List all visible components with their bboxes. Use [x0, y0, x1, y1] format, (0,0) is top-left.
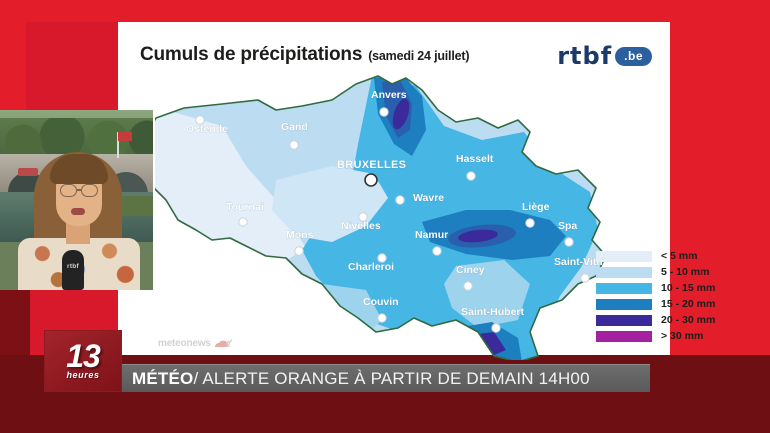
reporter-mouth	[71, 208, 85, 215]
reporter-video-inset: rtbf	[0, 110, 155, 290]
legend-label: 15 - 20 mm	[661, 298, 715, 310]
city-marker	[295, 247, 303, 255]
map-subtitle: (samedi 24 juillet)	[368, 49, 469, 63]
city-marker	[433, 247, 441, 255]
reporter-hair-top	[50, 154, 108, 184]
city-marker	[290, 141, 298, 149]
legend-swatch	[596, 331, 652, 342]
program-number: 13	[66, 342, 100, 371]
city-label: Namur	[415, 229, 448, 241]
city-marker	[526, 219, 534, 227]
legend-row: 20 - 30 mm	[596, 314, 715, 326]
city-marker	[565, 238, 573, 246]
city-marker	[467, 172, 475, 180]
microphone-logo: rtbf	[64, 262, 82, 271]
glasses-left-lens	[60, 184, 77, 197]
city-label: Mons	[286, 229, 314, 241]
city-label: Liège	[522, 201, 550, 213]
flag	[118, 132, 132, 141]
precip-zones	[126, 70, 626, 360]
city-label: Ciney	[456, 264, 485, 276]
city-marker	[380, 108, 388, 116]
precipitation-legend: < 5 mm5 - 10 mm10 - 15 mm15 - 20 mm20 - …	[596, 250, 715, 342]
page-title: Cumuls de précipitations(samedi 24 juill…	[140, 44, 469, 66]
city-marker	[378, 314, 386, 322]
city-label: Couvin	[363, 296, 399, 308]
city-marker	[396, 196, 404, 204]
legend-label: 10 - 15 mm	[661, 282, 715, 294]
rtbf-wordmark: rtbf	[557, 42, 612, 70]
city-marker	[581, 274, 589, 282]
legend-row: 5 - 10 mm	[596, 266, 715, 278]
program-subtitle: heures	[66, 370, 99, 380]
city-marker	[239, 218, 247, 226]
legend-row: 15 - 20 mm	[596, 298, 715, 310]
legend-swatch	[596, 267, 652, 278]
city-marker	[365, 174, 377, 186]
banner-category: MÉTÉO	[132, 369, 193, 389]
legend-swatch	[596, 251, 652, 262]
city-label: Saint-Hubert	[461, 306, 525, 318]
glasses-bridge	[77, 189, 81, 191]
legend-swatch	[596, 315, 652, 326]
rtbf-logo: rtbf .be	[557, 42, 652, 70]
city-label: Tournai	[226, 201, 264, 213]
city-label: Gand	[281, 121, 308, 133]
watermark-text: meteonews	[158, 338, 211, 349]
city-label: Ostende	[186, 123, 228, 135]
map-title-text: Cumuls de précipitations	[140, 44, 362, 65]
broadcast-screen: Cumuls de précipitations(samedi 24 juill…	[0, 0, 770, 433]
cloud-signal-icon	[213, 336, 235, 350]
city-label: Anvers	[371, 89, 407, 101]
legend-label: < 5 mm	[661, 250, 697, 262]
legend-row: 10 - 15 mm	[596, 282, 715, 294]
city-marker	[464, 282, 472, 290]
belgium-precipitation-map: OstendeGandAnversBRUXELLESHasseltTournai…	[126, 70, 626, 360]
city-label: BRUXELLES	[337, 159, 406, 171]
legend-swatch	[596, 299, 652, 310]
legend-row: < 5 mm	[596, 250, 715, 262]
meteonews-watermark: meteonews	[158, 336, 235, 350]
rtbf-be-pill: .be	[615, 47, 652, 66]
city-label: Spa	[558, 220, 577, 232]
legend-label: 20 - 30 mm	[661, 314, 715, 326]
banner-headline: / ALERTE ORANGE À PARTIR DE DEMAIN 14H00	[193, 369, 589, 389]
city-label: Hasselt	[456, 153, 494, 165]
city-label: Wavre	[413, 192, 444, 204]
weather-map-panel: Cumuls de précipitations(samedi 24 juill…	[118, 22, 670, 355]
frame-top	[0, 0, 770, 22]
legend-label: 5 - 10 mm	[661, 266, 709, 278]
city-label: Charleroi	[348, 261, 394, 273]
city-marker	[492, 324, 500, 332]
legend-row: > 30 mm	[596, 330, 715, 342]
legend-label: > 30 mm	[661, 330, 703, 342]
city-label: Nivelles	[341, 220, 381, 232]
legend-swatch	[596, 283, 652, 294]
program-logo-13-heures: 13 heures	[44, 330, 122, 392]
news-ticker-banner: MÉTÉO / ALERTE ORANGE À PARTIR DE DEMAIN…	[122, 364, 650, 392]
parked-car	[18, 168, 38, 176]
glasses-right-lens	[81, 184, 98, 197]
